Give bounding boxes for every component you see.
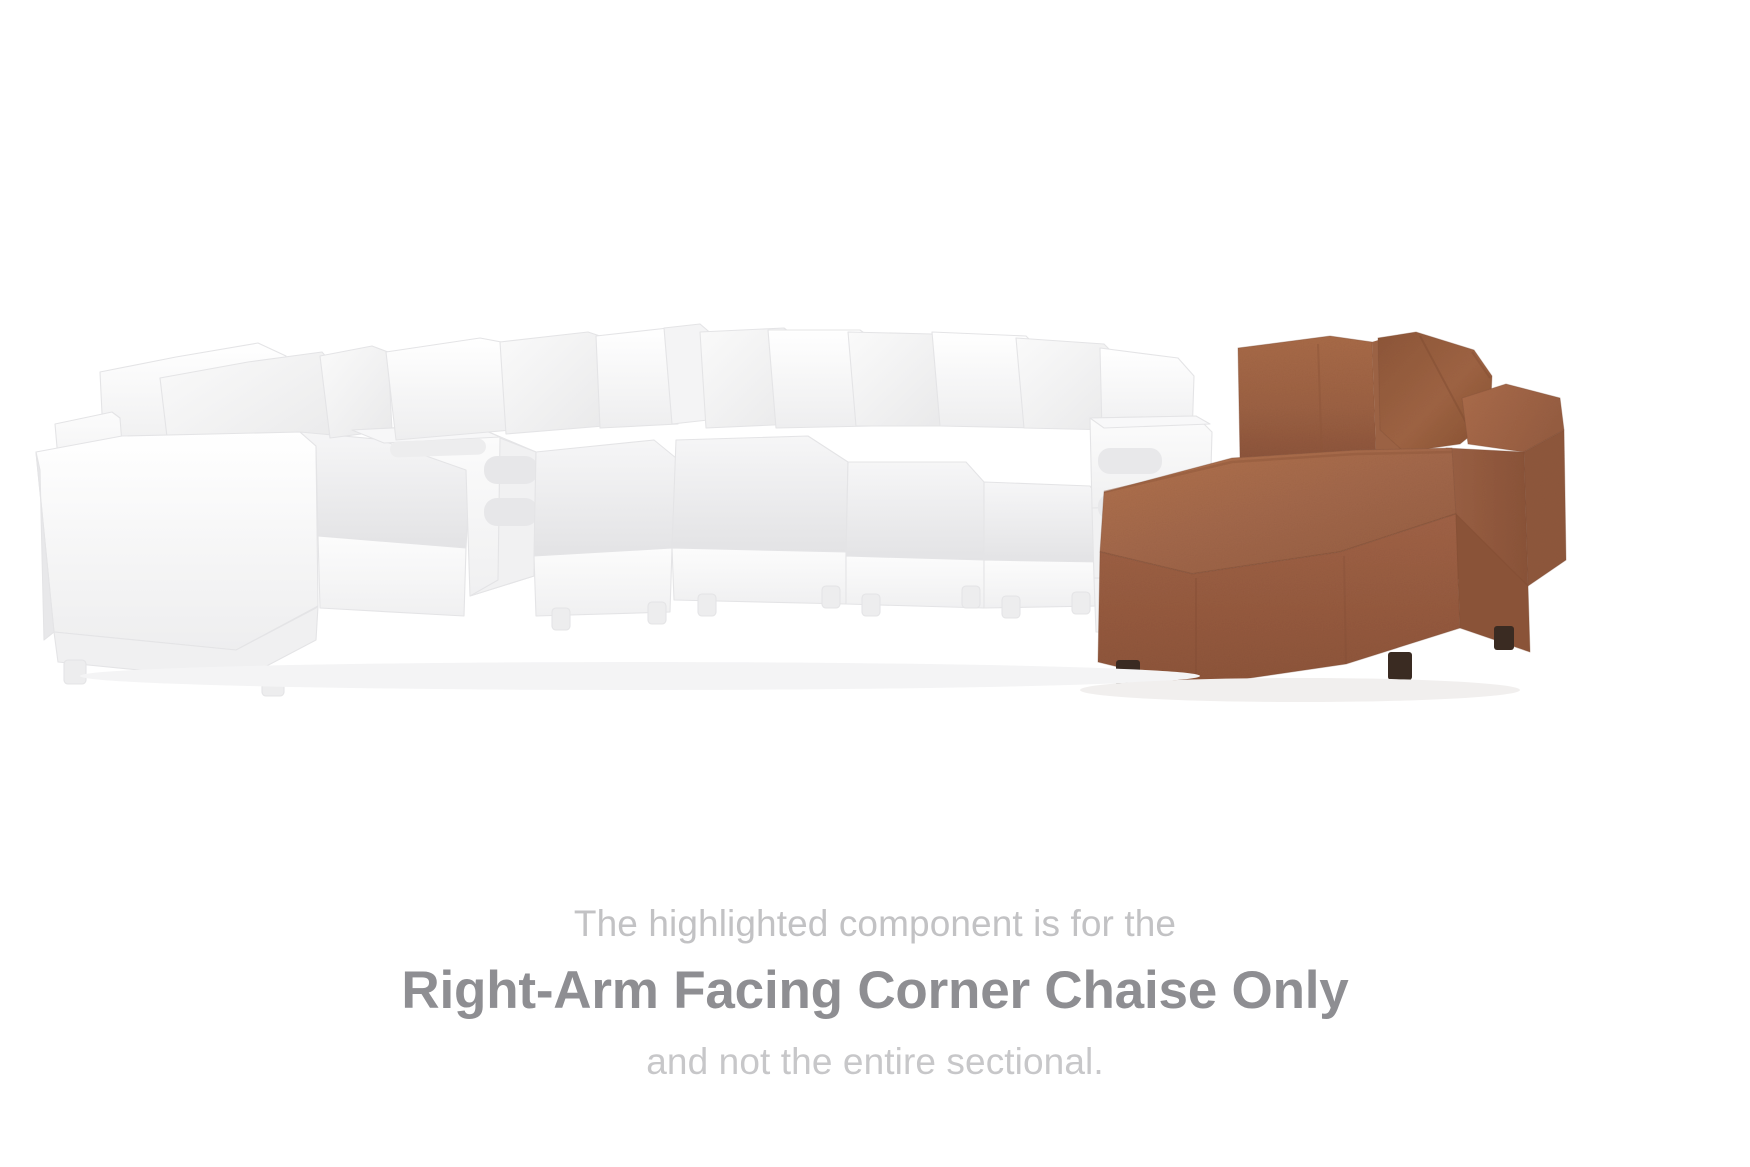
product-highlight-screenshot: The highlighted component is for the Rig… [0, 0, 1750, 1167]
ghosted-sectional-group [36, 324, 1212, 696]
chaise-foot-rear [1494, 626, 1514, 650]
floor-shadow-right [1080, 678, 1520, 702]
caption-line-secondary: and not the entire sectional. [0, 1043, 1750, 1080]
caption-block: The highlighted component is for the Rig… [0, 905, 1750, 1080]
chaise-foot-right [1388, 652, 1412, 680]
product-image [0, 0, 1750, 800]
chaise-back-cushion [1238, 336, 1376, 464]
chaise-right-arm-outer [1524, 430, 1566, 586]
caption-component-name: Right-Arm Facing Corner Chaise Only [0, 964, 1750, 1017]
floor-shadow-left [80, 662, 1200, 690]
caption-line-primary: The highlighted component is for the [0, 905, 1750, 942]
sectional-sofa-illustration [0, 0, 1750, 800]
